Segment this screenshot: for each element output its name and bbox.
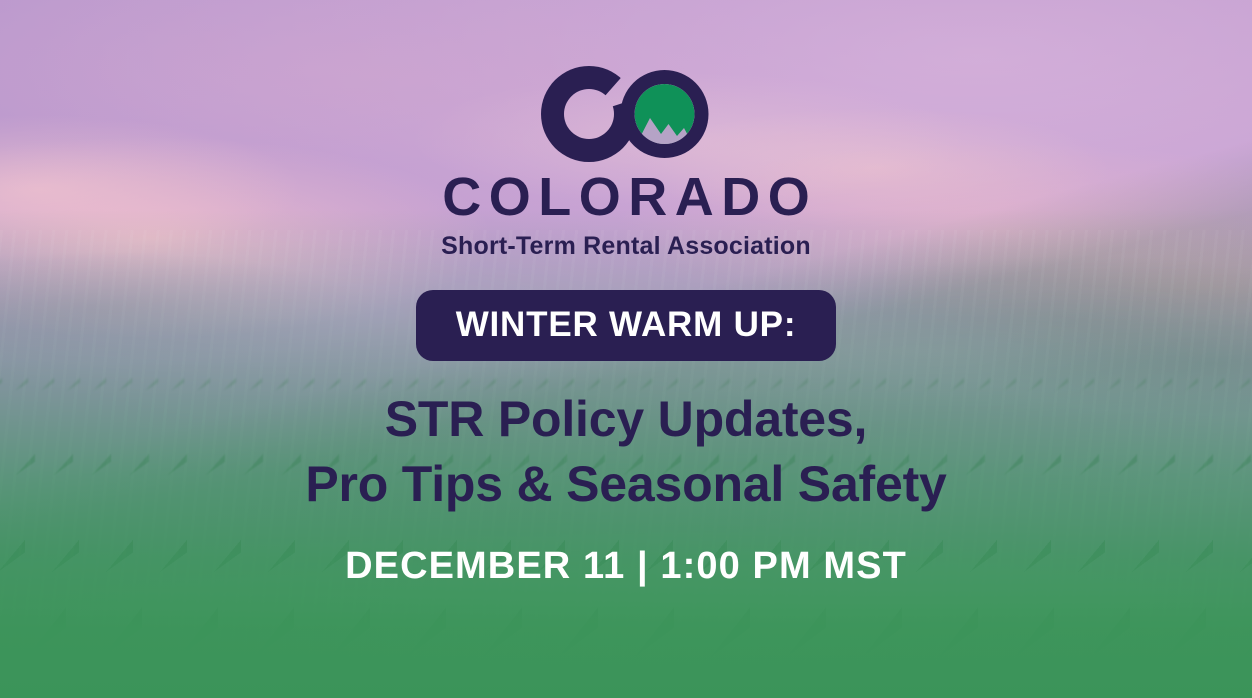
content-stack: COLORADO Short-Term Rental Association W… bbox=[0, 0, 1252, 698]
headline-line-1: STR Policy Updates, bbox=[305, 387, 946, 452]
promotional-graphic: COLORADO Short-Term Rental Association W… bbox=[0, 0, 1252, 698]
eyebrow-badge-label: WINTER WARM UP: bbox=[456, 307, 797, 342]
colorado-str-association-logo-icon bbox=[537, 62, 715, 166]
headline-line-2: Pro Tips & Seasonal Safety bbox=[305, 452, 946, 517]
logo-subwordmark: Short-Term Rental Association bbox=[441, 234, 811, 259]
eyebrow-badge: WINTER WARM UP: bbox=[416, 290, 837, 361]
logo-wordmark: COLORADO bbox=[435, 170, 817, 224]
headline: STR Policy Updates, Pro Tips & Seasonal … bbox=[305, 387, 946, 517]
event-datetime: DECEMBER 11 | 1:00 PM MST bbox=[345, 547, 907, 585]
